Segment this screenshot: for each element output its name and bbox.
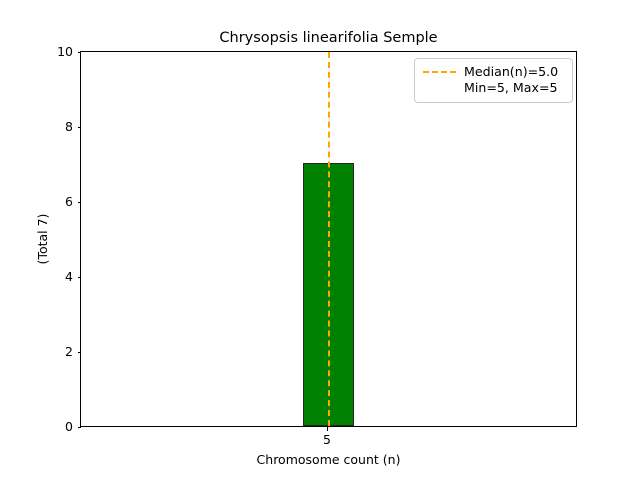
legend-label-median: Median(n)=5.0 — [464, 64, 558, 80]
legend[interactable]: Median(n)=5.0 Min=5, Max=5 — [414, 58, 573, 103]
x-tick-mark-5 — [327, 427, 328, 431]
y-axis-label: (Total 7) Num of counts — [0, 51, 34, 427]
legend-entry-median: Median(n)=5.0 — [423, 64, 564, 80]
legend-label-minmax: Min=5, Max=5 — [423, 80, 564, 96]
plot-area — [81, 52, 576, 426]
x-axis-label: Chromosome count (n) — [80, 453, 577, 467]
chart-title: Chrysopsis linearifolia Semple — [80, 30, 577, 47]
x-tick-label-5: 5 — [307, 433, 347, 447]
matplotlib-figure: Chrysopsis linearifolia Semple 0 2 4 6 8… — [0, 0, 640, 480]
y-axis-label-line-2: (Total 7) — [34, 51, 51, 427]
plot-axes: Median(n)=5.0 Min=5, Max=5 — [80, 51, 577, 427]
y-tick-mark-0 — [78, 427, 82, 428]
legend-dashed-line-icon — [423, 71, 456, 73]
median-line — [328, 52, 330, 426]
